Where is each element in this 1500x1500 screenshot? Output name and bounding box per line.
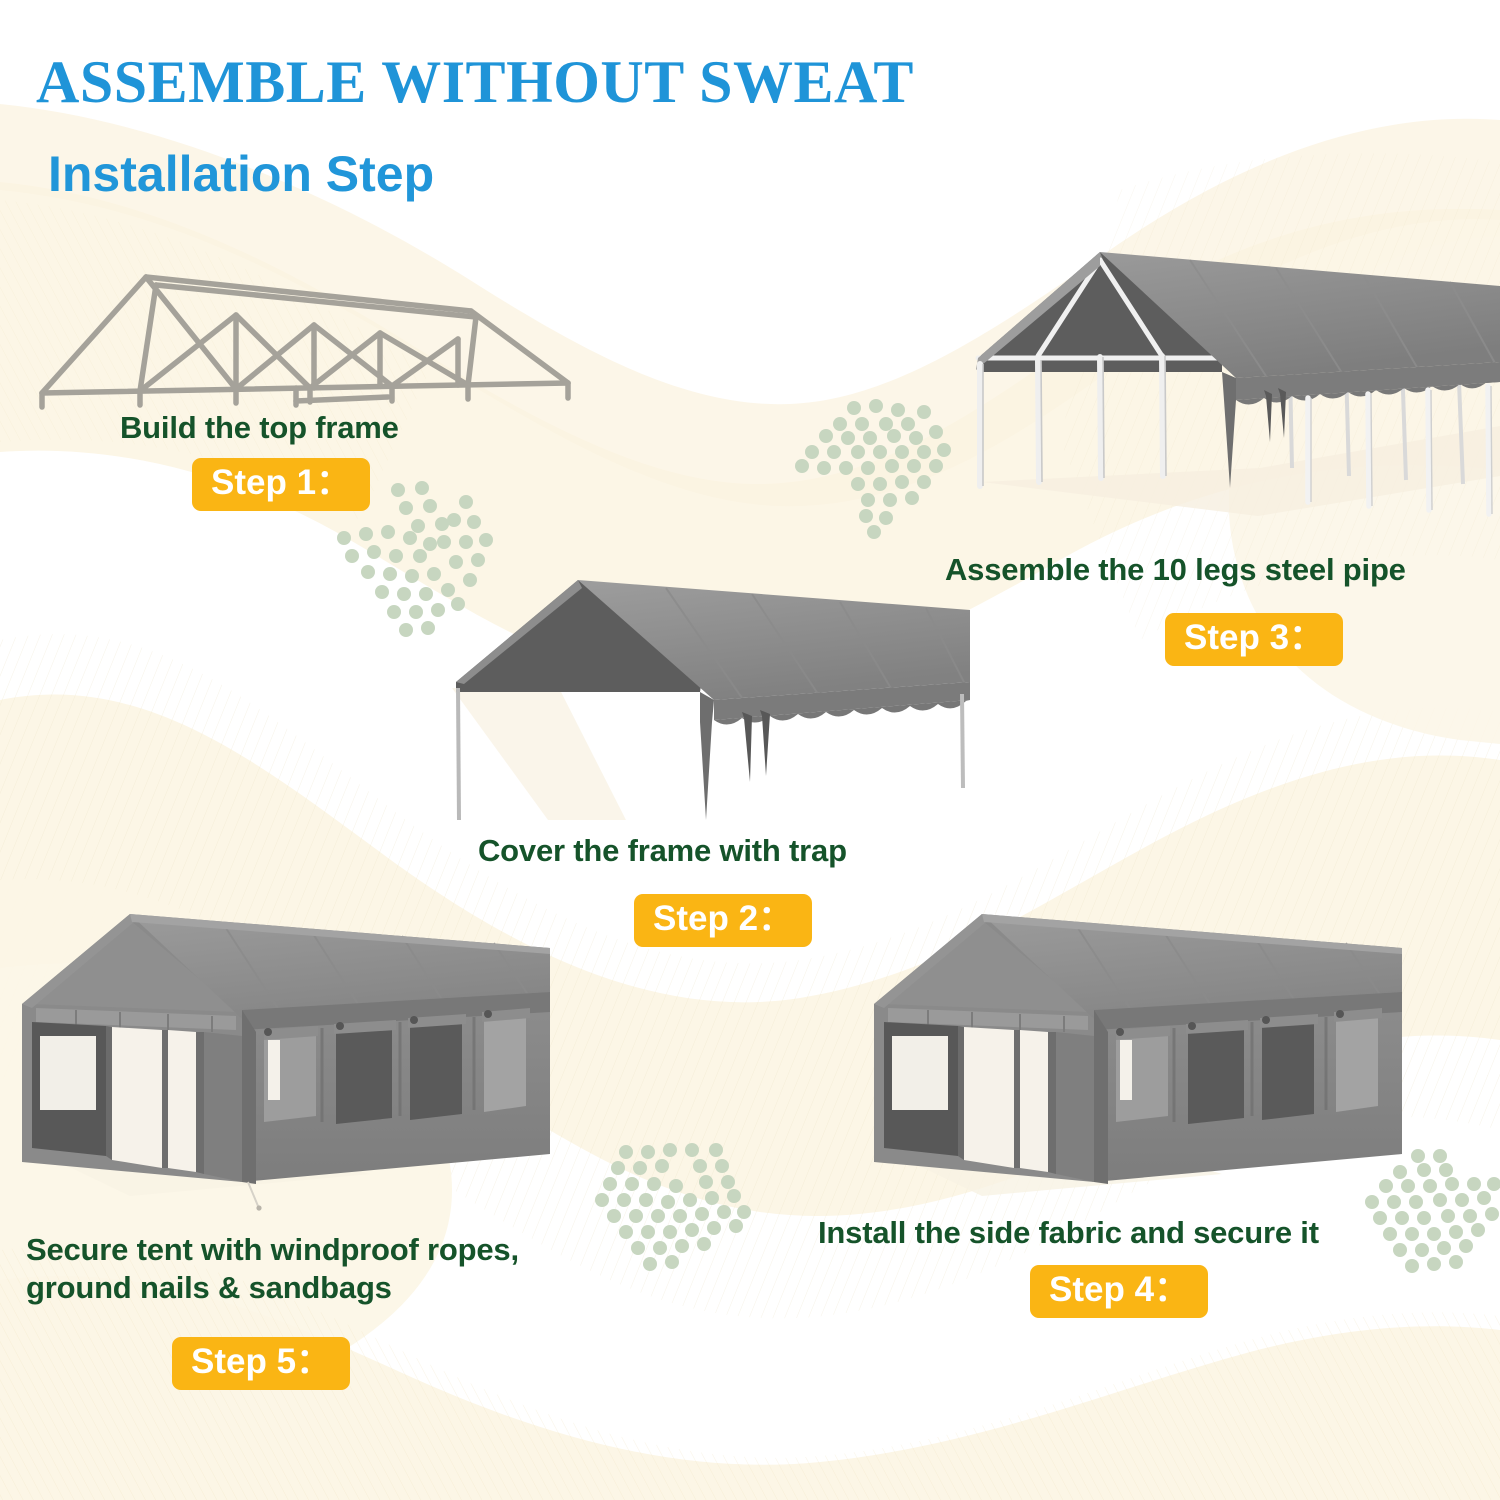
illustration-step-1-top-frame xyxy=(28,255,588,415)
illustration-step-2-tarp xyxy=(430,570,970,830)
infographic-page: ASSEMBLE WITHOUT SWEAT Installation Step xyxy=(0,0,1500,1500)
caption-step-3: Assemble the 10 legs steel pipe xyxy=(945,551,1406,589)
dot-cluster-bottom-center xyxy=(595,1143,751,1271)
badge-step-1: Step 1： xyxy=(192,458,370,511)
caption-step-5: Secure tent with windproof ropes, ground… xyxy=(26,1231,519,1307)
caption-step-1: Build the top frame xyxy=(120,409,399,447)
illustration-step-5-secured-tent xyxy=(10,900,550,1220)
badge-step-2: Step 2： xyxy=(634,894,812,947)
dot-cluster-upper-right xyxy=(795,399,951,539)
page-subtitle: Installation Step xyxy=(48,145,434,203)
badge-step-4: Step 4： xyxy=(1030,1265,1208,1318)
caption-step-4: Install the side fabric and secure it xyxy=(818,1214,1319,1252)
page-title: ASSEMBLE WITHOUT SWEAT xyxy=(36,48,914,117)
illustration-step-3-carport-legs xyxy=(940,230,1500,530)
caption-step-2: Cover the frame with trap xyxy=(478,832,847,870)
badge-step-3: Step 3： xyxy=(1165,613,1343,666)
illustration-step-4-side-fabric xyxy=(862,900,1402,1220)
badge-step-5: Step 5： xyxy=(172,1337,350,1390)
